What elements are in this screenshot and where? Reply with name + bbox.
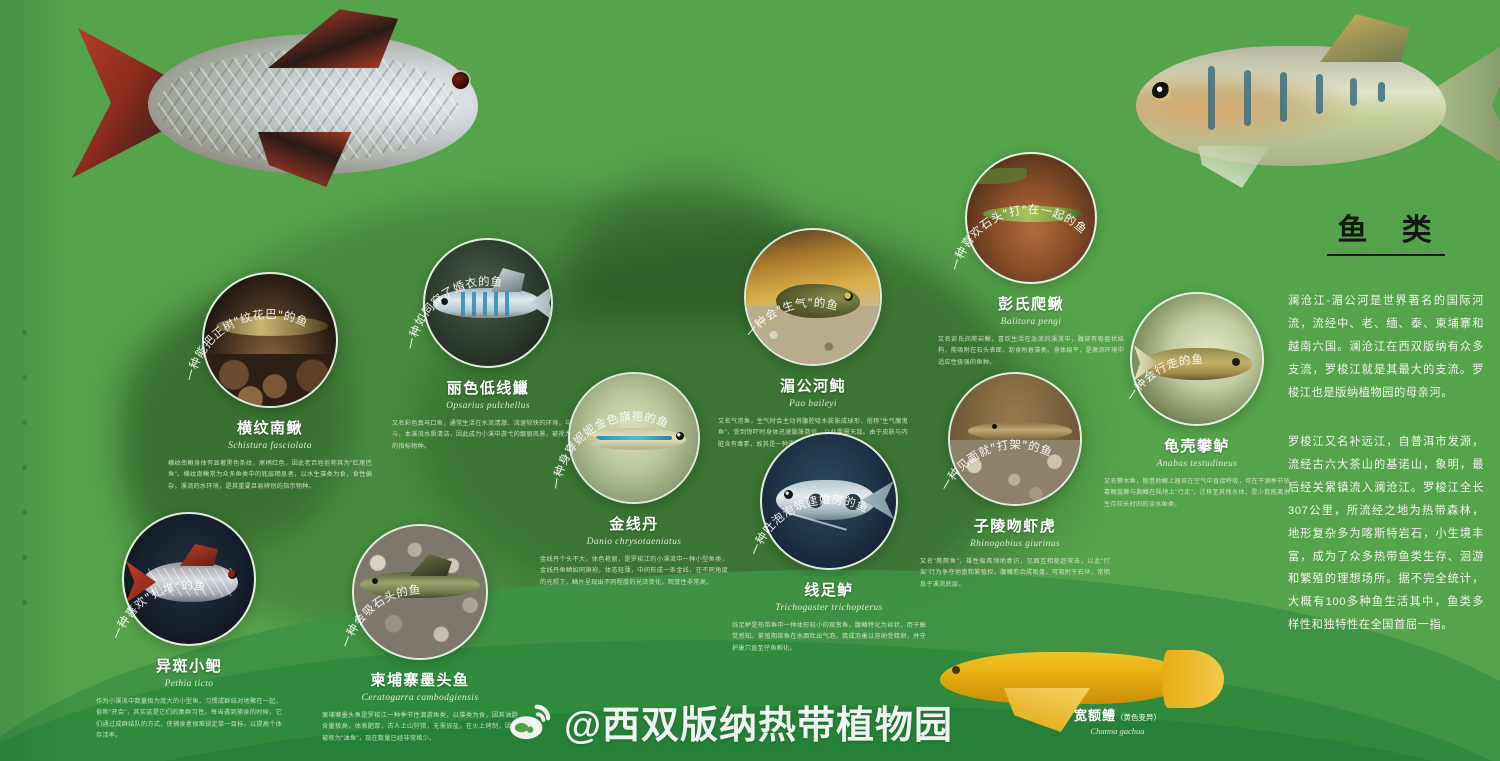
species-cn-name: 彭氏爬鳅 <box>938 293 1124 314</box>
species-sci-name: Schistura fasciolata <box>168 441 372 451</box>
poster-root: 一种能把正树"纹花巴"的鱼 横纹南鳅 Schistura fasciolata … <box>0 0 1500 761</box>
species-card-pao-baileyi[interactable]: 一种会"生气"的鱼 湄公河鲀 Pao baileyi 又名气泡鱼，生气时会主动将… <box>718 228 908 450</box>
species-scales <box>148 568 232 596</box>
species-blurb: 金线丹个头不大，体色艳丽，是罗梭江的小溪流中一种小型鱼类，金线丹鱼鳞如同旗袍，体… <box>540 554 728 588</box>
intro-paragraph-1: 澜沧江-湄公河是世界著名的国际河流，流经中、老、缅、泰、柬埔寨和越南六国。澜沧江… <box>1288 290 1484 405</box>
species-goldline <box>596 436 672 440</box>
weibo-icon <box>508 703 554 741</box>
bottom-species-cn: 宽额鳢（黄色变异） <box>1074 705 1161 724</box>
species-subject <box>968 422 1072 440</box>
species-sci-name: Pethia ticto <box>96 679 282 689</box>
intro-paragraph-2: 罗梭江又名补远江，自普洱市发源，流经古六大茶山的基诺山，象明，最后经关累镇流入澜… <box>1288 431 1484 638</box>
fish-tail-fin <box>1162 650 1224 708</box>
species-card-danio-chrysotaeniatus[interactable]: 一种身穿妮妮金色旗袍的鱼 金线丹 Danio chrysotaeniatus 金… <box>540 372 728 588</box>
species-blurb: 又名攀木鱼，能借助鳃上器官在空气中直接呼吸，可在干涸季节依靠鳃盖棘与胸鳍在陆地上… <box>1104 476 1290 510</box>
species-card-schistura-fasciolata[interactable]: 一种能把正树"纹花巴"的鱼 横纹南鳅 Schistura fasciolata … <box>168 272 372 492</box>
species-stripes <box>461 292 513 316</box>
photo-fish-top-left <box>28 10 498 195</box>
watermark-handle: @西双版纳热带植物园 <box>564 694 953 749</box>
species-eye <box>844 292 853 301</box>
species-spots <box>802 492 864 512</box>
species-blurb: 作为小溪流中数量极为庞大的小型鱼，习惯成群结对地聚在一起，俗称"开会"，其实这是… <box>96 696 282 742</box>
bottom-species-cn-main: 宽额鳢 <box>1074 708 1116 723</box>
species-sci-name: Rhinogobius giurinus <box>920 539 1110 549</box>
species-sci-name: Ceratogarra cambodgiensis <box>322 693 518 703</box>
species-blurb: 柬埔寨墨头鱼是罗梭江一种季节性洄游鱼类，以藻类为食，因其油脂含量极高，体表肥厚，… <box>322 710 518 744</box>
species-eye <box>1232 358 1240 366</box>
species-blurb: 横纹南鳅身体有显著黑色条纹，尾柄红色，因此老百姓俗称其为"红尾巴鱼"。横纹南鳅常… <box>168 458 372 492</box>
fish-stripes <box>1208 60 1398 152</box>
species-card-ceratogarra-cambodgiensis[interactable]: 一种会吸石头的鱼 柬埔寨墨头鱼 Ceratogarra cambodgiensi… <box>322 524 518 744</box>
species-photo-circle[interactable] <box>744 228 882 366</box>
species-photo-circle[interactable] <box>568 372 700 504</box>
species-photo-circle[interactable] <box>122 512 256 646</box>
species-sci-name: Trichogaster trichopterus <box>732 603 926 613</box>
fish-eye <box>452 72 469 89</box>
species-eye <box>992 424 997 429</box>
species-photo-circle[interactable] <box>760 432 898 570</box>
species-blurb: 又名彭氏间爬岩鳅，喜欢生活在急流的溪流中，腹部有吸盘状结构，能吸附在石头表面，刮… <box>938 334 1124 368</box>
species-card-rhinogobius-giurinus[interactable]: 一种见面就"打架"的鱼 子陵吻虾虎 Rhinogobius giurinus 又… <box>920 372 1110 590</box>
species-substrate <box>950 440 1082 504</box>
species-sci-name: Anabas testudineus <box>1104 459 1290 469</box>
species-eye <box>372 578 378 584</box>
species-photo-circle[interactable] <box>948 372 1082 506</box>
species-photo-circle[interactable] <box>202 272 338 408</box>
species-eye <box>676 432 684 440</box>
species-card-balitora-pengi[interactable]: 一种喜欢石头"打"在一起的鱼 彭氏爬鳅 Balitora pengi 又名彭氏间… <box>938 152 1124 368</box>
fish-eye <box>1152 82 1171 101</box>
species-blurb: 线足鲈是热带鱼中一种体形较小的观赏鱼，腹鳍特化为丝状，用于触觉感知。繁殖期雄鱼在… <box>732 620 926 654</box>
bottom-species-cn-note: （黄色变异） <box>1116 713 1161 722</box>
watermark: @西双版纳热带植物园 <box>508 694 953 749</box>
species-cn-name: 线足鲈 <box>732 579 926 600</box>
species-sci-name: Pao baileyi <box>718 399 908 409</box>
species-cn-name: 横纹南鳅 <box>168 417 372 438</box>
edge-dot-strip <box>22 330 27 645</box>
species-photo-circle[interactable] <box>423 238 553 368</box>
intro-column: 鱼 类 澜沧江-湄公河是世界著名的国际河流，流经中、老、缅、泰、柬埔寨和越南六国… <box>1288 205 1484 637</box>
species-photo-circle[interactable] <box>965 152 1097 284</box>
species-eye <box>441 298 448 305</box>
photo-fish-top-right <box>1108 8 1500 218</box>
species-blurb: 又名"爬爬鱼"，雄性极具领地意识，见面互相驱赶攻击，以此"打架"行为争夺地盘和繁… <box>920 556 1110 590</box>
bottom-species-caption: 宽额鳢（黄色变异） Channa gachua <box>1074 705 1161 736</box>
fish-eye <box>952 666 960 674</box>
species-eye <box>228 570 237 579</box>
species-card-pethia-ticto[interactable]: 一种喜欢"扎堆"的鱼 异斑小鲃 Pethia ticto 作为小溪流中数量极为庞… <box>96 512 282 742</box>
species-cn-name: 金线丹 <box>540 513 728 534</box>
species-cn-name: 异斑小鲃 <box>96 655 282 676</box>
species-substrate <box>204 354 338 406</box>
species-photo-circle[interactable] <box>352 524 488 660</box>
species-eye <box>784 490 793 499</box>
species-subject <box>216 316 328 336</box>
species-card-trichogaster-trichopterus[interactable]: 一种吐泡泡筑建婚房的鱼 线足鲈 Trichogaster trichopteru… <box>732 432 926 654</box>
species-cn-name: 子陵吻虾虎 <box>920 515 1110 536</box>
species-subject <box>983 206 1083 222</box>
species-sci-name: Balitora pengi <box>938 317 1124 327</box>
species-sci-name: Danio chrysotaeniatus <box>540 537 728 547</box>
species-cn-name: 龟壳攀鲈 <box>1104 435 1290 456</box>
species-subject <box>776 284 860 318</box>
title-underline <box>1327 254 1445 256</box>
species-cn-name: 柬埔寨墨头鱼 <box>322 669 518 690</box>
bottom-species-sci: Channa gachua <box>1074 726 1161 736</box>
page-title: 鱼 类 <box>1288 205 1484 249</box>
species-card-anabas-testudineus[interactable]: 一种会行走的鱼 龟壳攀鲈 Anabas testudineus 又名攀木鱼，能借… <box>1104 292 1290 510</box>
species-cn-name: 湄公河鲀 <box>718 375 908 396</box>
fish-dorsal-fin <box>1320 14 1410 62</box>
species-photo-circle[interactable] <box>1130 292 1264 426</box>
